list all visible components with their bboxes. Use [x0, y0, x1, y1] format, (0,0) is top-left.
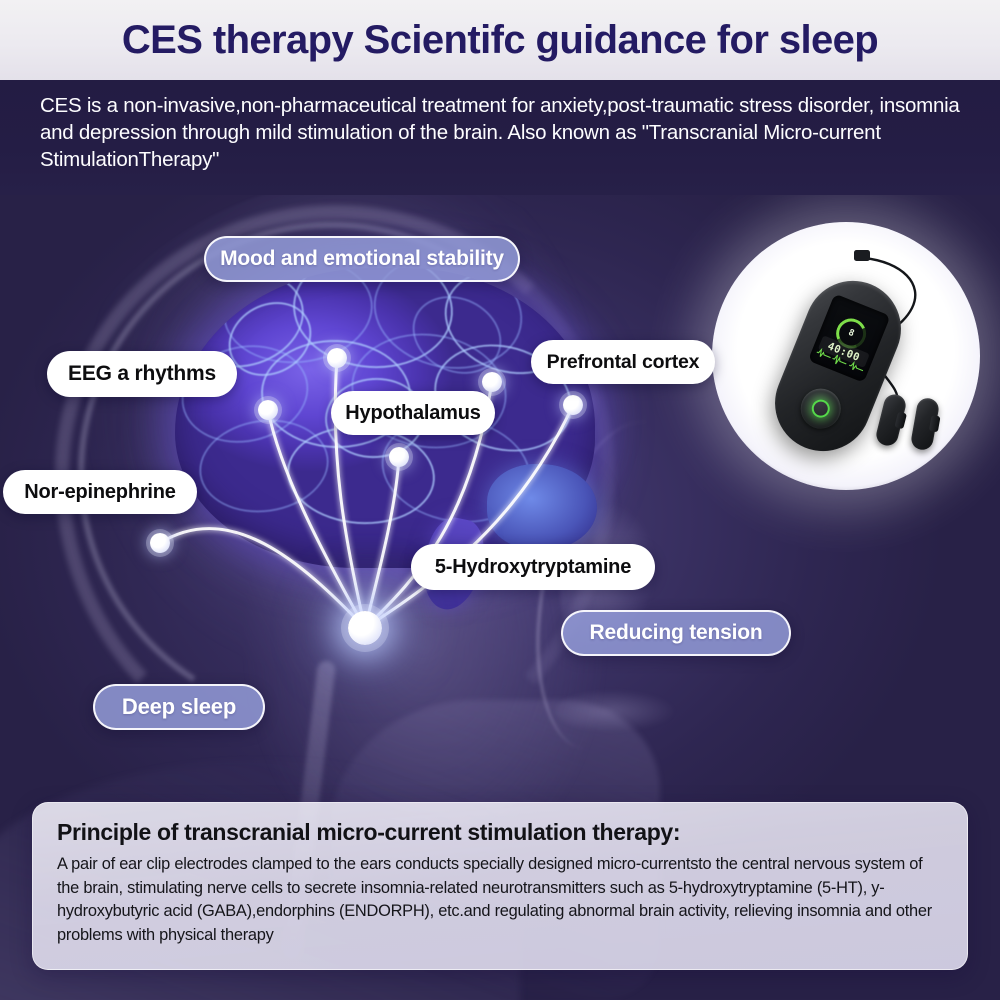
device-screen: 8 40:00 — [808, 294, 891, 383]
cerebellum — [487, 464, 597, 550]
principle-info-panel: Principle of transcranial micro-current … — [32, 802, 968, 970]
callout-prefrontal-cortex[interactable]: Prefrontal cortex — [531, 340, 715, 384]
waveform-icon — [815, 346, 833, 362]
power-ring-icon — [809, 397, 832, 420]
node-hypothalamus[interactable] — [389, 447, 409, 467]
wire-connector — [854, 250, 870, 261]
node-norepinephrine[interactable] — [150, 533, 170, 553]
callout-mood-and-emotional-stability[interactable]: Mood and emotional stability — [204, 236, 520, 282]
node-prefrontal[interactable] — [482, 372, 502, 392]
principle-body: A pair of ear clip electrodes clamped to… — [57, 853, 945, 947]
node-mood[interactable] — [327, 348, 347, 368]
waveform-icon — [831, 353, 849, 369]
power-button[interactable] — [795, 383, 847, 435]
lips-shape — [555, 690, 675, 732]
callout-label: Deep sleep — [122, 694, 236, 720]
intensity-value: 8 — [847, 328, 856, 339]
callout-label: Mood and emotional stability — [220, 247, 504, 271]
callout-label: Reducing tension — [590, 621, 763, 645]
node-eeg-rhythms[interactable] — [258, 400, 278, 420]
device-photo-halo: 8 40:00 — [712, 222, 980, 490]
callout-label: EEG a rhythms — [68, 362, 216, 386]
callout-label: Prefrontal cortex — [547, 351, 700, 374]
callout-reducing-tension[interactable]: Reducing tension — [561, 610, 791, 656]
callout-eeg-a-rhythms[interactable]: EEG a rhythms — [47, 351, 237, 397]
callout-5-hydroxytryptamine[interactable]: 5-Hydroxytryptamine — [411, 544, 655, 590]
callout-label: 5-Hydroxytryptamine — [435, 556, 631, 579]
infographic-canvas: CES therapy Scientifc guidance for sleep… — [0, 0, 1000, 1000]
intro-paragraph: CES is a non-invasive,non-pharmaceutical… — [40, 92, 974, 173]
principle-title: Principle of transcranial micro-current … — [57, 819, 945, 846]
waveform-icon — [847, 359, 865, 375]
callout-deep-sleep[interactable]: Deep sleep — [93, 684, 265, 730]
node-serotonin[interactable] — [563, 395, 583, 415]
callout-label: Hypothalamus — [345, 402, 480, 425]
callout-nor-epinephrine[interactable]: Nor-epinephrine — [3, 470, 197, 514]
page-title: CES therapy Scientifc guidance for sleep — [122, 18, 878, 63]
node-stimulation-hub[interactable] — [348, 611, 382, 645]
callout-hypothalamus[interactable]: Hypothalamus — [331, 391, 495, 435]
ces-device: 8 40:00 — [712, 222, 980, 490]
header-band: CES therapy Scientifc guidance for sleep — [0, 0, 1000, 80]
callout-label: Nor-epinephrine — [24, 481, 175, 504]
intro-section: CES is a non-invasive,non-pharmaceutical… — [0, 80, 1000, 195]
